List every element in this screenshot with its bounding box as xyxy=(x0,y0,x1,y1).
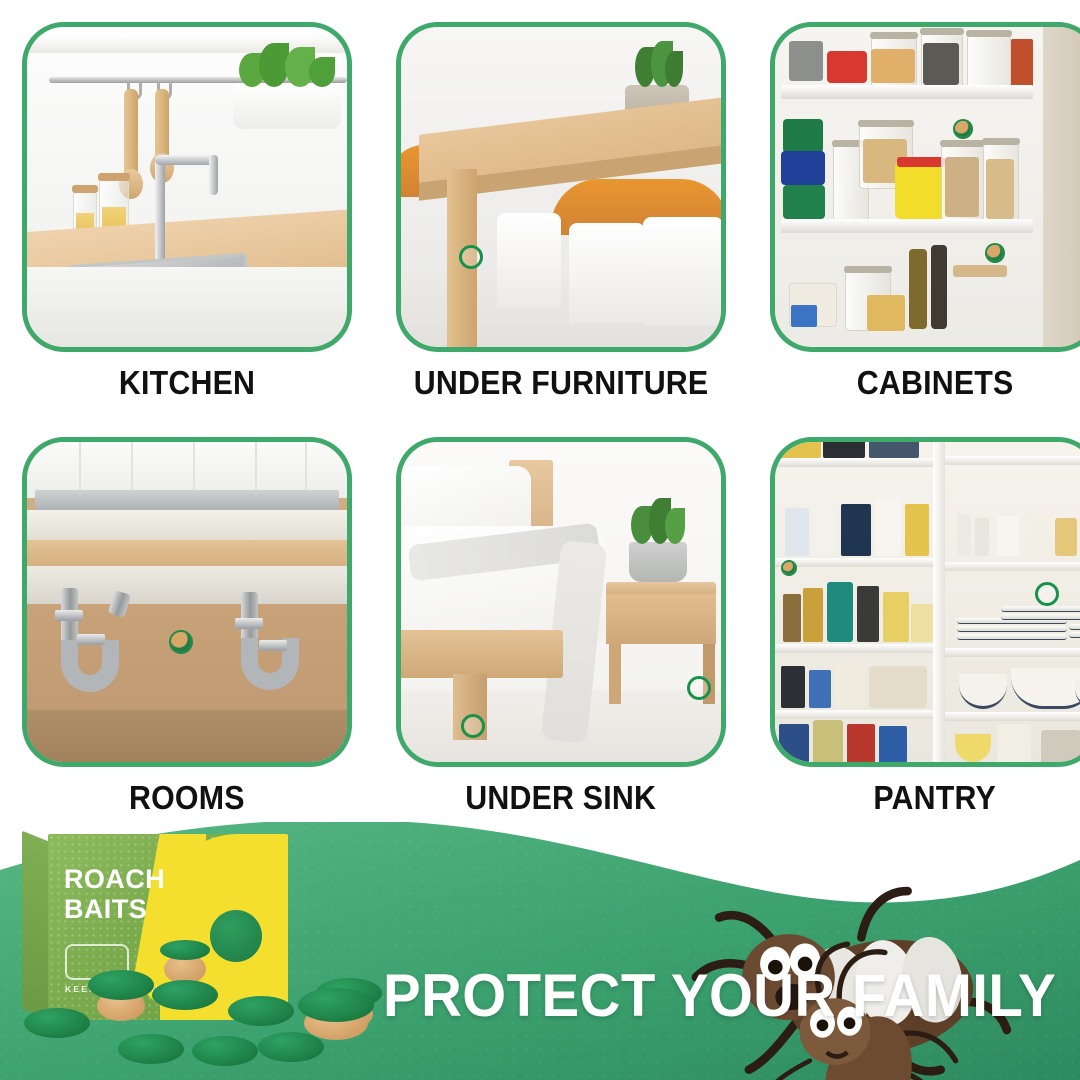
bait-marker xyxy=(955,121,971,137)
bottom-banner: ROACH BAITS KEEP ROACH AWAY xyxy=(0,822,1080,1080)
bait-disc xyxy=(24,1008,90,1048)
bait-disc-open xyxy=(298,998,374,1046)
package-title-line2: BAITS xyxy=(64,894,165,924)
bait-disc-open xyxy=(88,982,154,1022)
bait-marker xyxy=(687,676,711,700)
grid-cell-rooms: ROOMS xyxy=(0,415,374,830)
photo-rooms xyxy=(22,437,352,767)
placement-grid: KITCHEN xyxy=(0,0,1080,830)
grid-cell-under-sink: UNDER SINK xyxy=(374,415,748,830)
scene-cabinets xyxy=(775,27,1080,347)
grid-cell-kitchen: KITCHEN xyxy=(0,0,374,415)
bait-disc xyxy=(228,996,294,1036)
banner-headline: PROTECT YOUR FAMILY xyxy=(383,966,1056,1026)
scene-pantry xyxy=(775,442,1080,762)
caption-rooms: ROOMS xyxy=(129,781,245,814)
caption-pantry: PANTRY xyxy=(874,781,997,814)
scene-bedroom xyxy=(401,442,721,762)
bait-marker xyxy=(459,245,483,269)
caption-under-furniture: UNDER FURNITURE xyxy=(414,366,709,399)
bait-disc xyxy=(118,1034,184,1074)
caption-kitchen: KITCHEN xyxy=(119,366,255,399)
grid-cell-cabinets: CABINETS xyxy=(748,0,1080,415)
photo-kitchen xyxy=(22,22,352,352)
bait-disc xyxy=(152,980,218,1020)
photo-under-sink xyxy=(396,437,726,767)
infographic-page: KITCHEN xyxy=(0,0,1080,1080)
bait-marker xyxy=(1035,582,1059,606)
herb-planter xyxy=(233,83,341,129)
bait-marker xyxy=(171,632,191,652)
bait-marker xyxy=(783,562,795,574)
scene-kitchen xyxy=(27,27,347,347)
bait-marker xyxy=(987,245,1003,261)
grid-cell-pantry: PANTRY xyxy=(748,415,1080,830)
package-bait-disc-icon xyxy=(210,910,262,962)
photo-under-furniture xyxy=(396,22,726,352)
potted-plant xyxy=(629,542,687,582)
photo-cabinets xyxy=(770,22,1080,352)
photo-pantry xyxy=(770,437,1080,767)
caption-cabinets: CABINETS xyxy=(857,366,1014,399)
bait-disc xyxy=(192,1036,258,1076)
scene-under-furniture xyxy=(401,27,721,347)
bait-marker xyxy=(461,714,485,738)
grid-cell-under-furniture: UNDER FURNITURE xyxy=(374,0,748,415)
caption-under-sink: UNDER SINK xyxy=(466,781,657,814)
scene-rooms xyxy=(27,442,347,762)
package-title-line1: ROACH xyxy=(64,864,165,894)
